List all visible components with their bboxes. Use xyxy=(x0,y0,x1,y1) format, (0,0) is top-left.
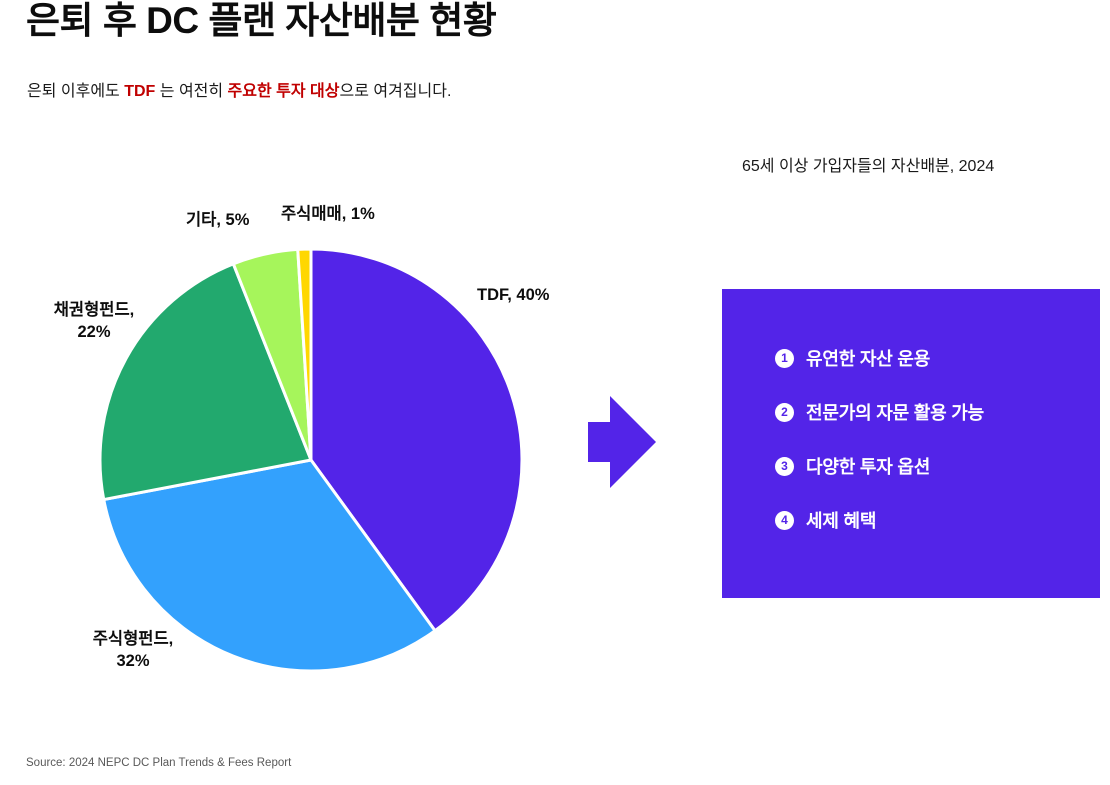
list-item: 4 세제 혜택 xyxy=(775,507,984,533)
number-badge-3: 3 xyxy=(775,457,794,476)
pie-label-etc: 기타, 5% xyxy=(186,209,249,231)
pie-label-stock-trading: 주식매매, 1% xyxy=(281,203,375,225)
pie-label-bond-fund-line1: 채권형펀드, xyxy=(34,299,154,321)
list-item: 2 전문가의 자문 활용 가능 xyxy=(775,399,984,425)
subtitle-text-3: 으로 여겨집니다. xyxy=(339,83,451,100)
pie-label-bond-fund-line2: 22% xyxy=(34,321,154,343)
benefit-label-2: 전문가의 자문 활용 가능 xyxy=(806,399,984,425)
benefit-label-4: 세제 혜택 xyxy=(806,507,876,533)
source-note: Source: 2024 NEPC DC Plan Trends & Fees … xyxy=(26,757,291,769)
subtitle-highlight-tdf: TDF xyxy=(124,83,155,100)
benefit-label-3: 다양한 투자 옵션 xyxy=(806,453,930,479)
page-subtitle: 은퇴 이후에도 TDF 는 여전히 주요한 투자 대상으로 여겨집니다. xyxy=(27,77,451,101)
pie-label-equity-fund-line2: 32% xyxy=(63,650,203,672)
page-title: 은퇴 후 DC 플랜 자산배분 현황 xyxy=(26,0,496,44)
number-badge-1: 1 xyxy=(775,349,794,368)
subtitle-highlight-main: 주요한 투자 대상 xyxy=(228,83,340,100)
list-item: 3 다양한 투자 옵션 xyxy=(775,453,984,479)
subtitle-text-2: 는 여전히 xyxy=(155,83,227,100)
number-badge-2: 2 xyxy=(775,403,794,422)
benefits-list: 1 유연한 자산 운용 2 전문가의 자문 활용 가능 3 다양한 투자 옵션 … xyxy=(775,345,984,533)
list-item: 1 유연한 자산 운용 xyxy=(775,345,984,371)
subtitle-text-1: 은퇴 이후에도 xyxy=(27,83,124,100)
right-arrow-svg xyxy=(588,396,660,488)
pie-label-equity-fund-line1: 주식형펀드, xyxy=(63,628,203,650)
slide-root: 은퇴 후 DC 플랜 자산배분 현황 은퇴 이후에도 TDF 는 여전히 주요한… xyxy=(0,0,1110,785)
pie-label-tdf: TDF, 40% xyxy=(477,284,549,306)
pie-label-equity-fund: 주식형펀드, 32% xyxy=(63,628,203,673)
pie-slice-group xyxy=(100,249,522,671)
right-arrow-icon xyxy=(588,396,660,493)
number-badge-4: 4 xyxy=(775,511,794,530)
chart-caption: 65세 이상 가입자들의 자산배분, 2024 xyxy=(742,152,994,176)
pie-label-bond-fund: 채권형펀드, 22% xyxy=(34,299,154,344)
benefits-panel: 1 유연한 자산 운용 2 전문가의 자문 활용 가능 3 다양한 투자 옵션 … xyxy=(722,289,1100,598)
benefit-label-1: 유연한 자산 운용 xyxy=(806,345,930,371)
